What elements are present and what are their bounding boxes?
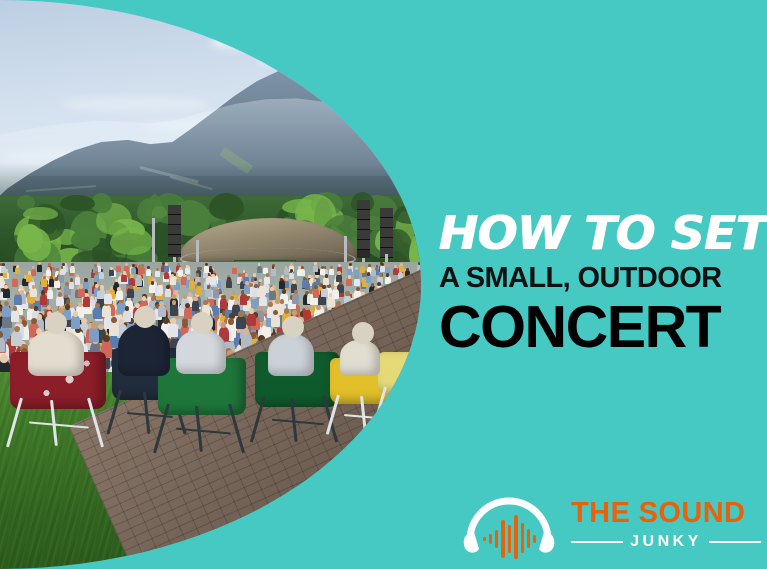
folding-chair (378, 352, 421, 422)
headline-line-1: HOW TO SET UP (439, 208, 767, 258)
content-panel: HOW TO SET UP A SMALL, OUTDOOR CONCERT (421, 0, 767, 569)
concert-banner: HOW TO SET UP A SMALL, OUTDOOR CONCERT (0, 0, 767, 569)
headline-line-2: A SMALL, OUTDOOR (439, 262, 767, 294)
logo-rule-left (571, 541, 623, 543)
logo-rule-right (709, 541, 761, 543)
brand-logo[interactable]: THE SOUND JUNKY (461, 488, 761, 562)
brand-wordmark: THE SOUND JUNKY (571, 498, 767, 551)
headline-block: HOW TO SET UP A SMALL, OUTDOOR CONCERT (439, 208, 767, 358)
brand-name-top: THE SOUND (571, 498, 767, 529)
headphones-waveform-icon (461, 490, 557, 560)
headline-line-3: CONCERT (439, 296, 767, 358)
concert-photo (0, 0, 421, 569)
brand-name-bottom: JUNKY (630, 533, 702, 551)
